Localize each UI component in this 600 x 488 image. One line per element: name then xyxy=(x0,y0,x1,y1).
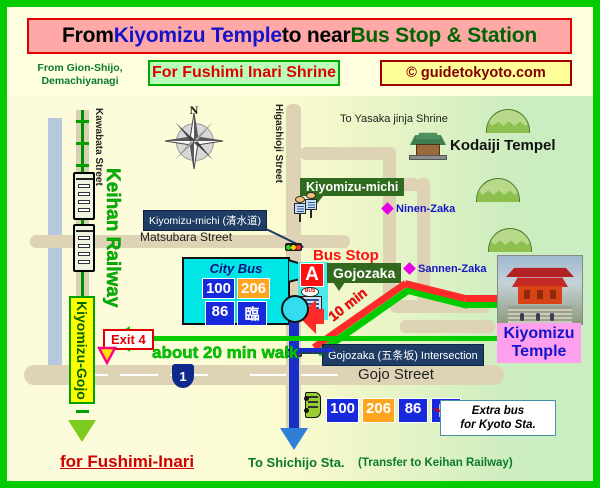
from-gion-line2: Demachiyanagi xyxy=(24,75,136,88)
keihan-railway-text: Keihan Railway xyxy=(102,168,123,307)
sannen-zaka-label: Sannen-Zaka xyxy=(418,263,486,275)
from-gion-line1: From Gion-Shijo, xyxy=(24,62,136,75)
walk-duration-label: about 20 min walk xyxy=(152,343,298,363)
city-bus-number-206: 206 xyxy=(237,278,270,299)
title-part-3: Bus Stop & Station xyxy=(350,24,537,48)
bus-stop-icon-2-cap xyxy=(306,192,316,199)
bottom-bus-number-206: 206 xyxy=(362,398,395,423)
title-part-2: to near xyxy=(282,24,351,48)
gojozaka-stop-pointer xyxy=(333,282,345,291)
train-bar-a xyxy=(76,178,93,180)
gojozaka-intersection-text: Gojozaka (五条坂) Intersection xyxy=(328,350,478,362)
train-window-b3 xyxy=(78,252,90,256)
transfer-note-label: (Transfer to Keihan Railway) xyxy=(358,457,513,469)
photo-steps xyxy=(508,306,572,324)
upper-east-road xyxy=(400,320,495,333)
transfer-note-text: (Transfer to Keihan Railway) xyxy=(358,457,513,469)
bottom-bus-number-86: 86 xyxy=(398,398,428,423)
kiyomizu-gojo-station[interactable]: Kiyomizu-Gojo xyxy=(69,296,95,404)
to-shichijo-label: To Shichijo Sta. xyxy=(248,455,345,470)
extra-bus-line-1: Extra bus xyxy=(443,404,553,418)
for-fushimi-inari-text: for Fushimi-Inari xyxy=(60,452,194,471)
bus-stop-icon-1-pole xyxy=(299,213,301,222)
to-shichijo-text: To Shichijo Sta. xyxy=(248,455,345,470)
east-vertical-road xyxy=(383,147,396,307)
kiyomizu-michi-stop-text: Kiyomizu-michi (清水道) xyxy=(149,215,261,227)
compass-star-icon xyxy=(163,111,225,171)
rail-tie-2 xyxy=(76,142,89,145)
photo-person-2 xyxy=(536,313,540,321)
gojozaka-stop-label: Gojozaka xyxy=(327,263,401,283)
city-bus-title: City Bus xyxy=(184,261,288,276)
to-yasaka-text: To Yasaka jinja Shrine xyxy=(340,113,448,125)
extra-bus-line-2: for Kyoto Sta. xyxy=(443,418,553,432)
train-window-a4 xyxy=(78,208,90,212)
rail-tie-10 xyxy=(76,410,89,413)
higashioji-street-text: Higashioji Street xyxy=(273,104,284,183)
photo-gate-body xyxy=(518,286,562,304)
gojo-street-dash-3 xyxy=(250,374,288,376)
city-bus-number-100: 100 xyxy=(202,278,235,299)
walk-duration-text: about 20 min walk xyxy=(152,343,298,362)
bus-wheel-front xyxy=(304,396,309,401)
page-title: From Kiyomizu Temple to near Bus Stop & … xyxy=(27,18,572,54)
title-part-1: Kiyomizu Temple xyxy=(114,24,282,48)
photo-person-1 xyxy=(520,313,524,321)
train-window-b4 xyxy=(78,260,90,264)
to-yasaka-label: To Yasaka jinja Shrine xyxy=(340,113,448,125)
train-window-a3 xyxy=(78,200,90,204)
credit-badge: © guidetokyoto.com xyxy=(380,60,572,86)
train-window-b2 xyxy=(78,244,90,248)
train-window-a1 xyxy=(78,184,90,188)
bottom-bus-number-100: 100 xyxy=(326,398,359,423)
sannen-zaka-text: Sannen-Zaka xyxy=(418,263,486,275)
kawabata-street-text: Kawabata Street xyxy=(93,108,104,186)
national-route-1-badge: 1 xyxy=(172,364,194,388)
bus-route-blue-node xyxy=(281,295,309,323)
train-window-a2 xyxy=(78,192,90,196)
kodaiji-temple-icon xyxy=(408,132,448,162)
rail-tie-1 xyxy=(76,120,89,123)
keihan-train-car-2 xyxy=(73,224,95,272)
national-route-1-number: 1 xyxy=(179,369,186,384)
bus-stop-icon-2 xyxy=(303,192,319,218)
city-bus-row-1: 100 206 xyxy=(184,278,288,299)
matsubara-street-label: Matsubara Street xyxy=(140,230,232,244)
gojo-street-dash-4 xyxy=(300,374,338,376)
kiyomizu-temple-photo xyxy=(497,255,583,325)
for-fushimi-inari-arrow xyxy=(68,420,96,442)
gojozaka-intersection-leader xyxy=(296,352,324,354)
kiyomizu-temple-line-1: Kiyomizu xyxy=(497,325,581,343)
gojo-street-label: Gojo Street xyxy=(358,366,434,383)
kiyomizu-temple-label: Kiyomizu Temple xyxy=(497,323,581,363)
kiyomizu-temple-line-2: Temple xyxy=(497,343,581,361)
ninen-zaka-text: Ninen-Zaka xyxy=(396,203,455,215)
train-window-b1 xyxy=(78,236,90,240)
compass-rose: N xyxy=(163,103,225,175)
train-bar-b xyxy=(76,230,93,232)
yasaka-road xyxy=(300,147,390,160)
photo-person-3 xyxy=(550,313,554,321)
from-gion-note: From Gion-Shijo, Demachiyanagi xyxy=(24,62,136,88)
bus-wheel-rear xyxy=(304,408,309,413)
fushimi-inari-banner: For Fushimi Inari Shrine xyxy=(148,60,340,86)
to-shichijo-arrow xyxy=(280,428,308,450)
gojozaka-stop-text: Gojozaka xyxy=(333,265,395,281)
kodaiji-temple-label: Kodaiji Tempel xyxy=(450,137,556,154)
exit-4-marker-icon xyxy=(96,344,118,366)
extra-bus-callout: Extra bus for Kyoto Sta. xyxy=(440,400,556,436)
bus-stop-a-marker[interactable]: A xyxy=(300,263,324,287)
city-bus-row-2: 86 臨 xyxy=(184,301,288,326)
keihan-railway-label: Keihan Railway xyxy=(101,168,123,307)
city-bus-number-86: 86 xyxy=(205,301,235,326)
bus-stop-heading-text: Bus Stop xyxy=(313,247,379,264)
ninen-zaka-label: Ninen-Zaka xyxy=(396,203,455,215)
kodaiji-temple-text: Kodaiji Tempel xyxy=(450,137,556,154)
kiyomizu-michi-road-text: Kiyomizu-michi xyxy=(306,180,398,194)
rail-tie-3 xyxy=(76,164,89,167)
city-bus-box: City Bus 100 206 86 臨 xyxy=(182,257,290,325)
credit-label: © guidetokyoto.com xyxy=(406,65,546,81)
city-bus-number-rinji: 臨 xyxy=(237,301,267,326)
fushimi-inari-banner-label: For Fushimi Inari Shrine xyxy=(152,64,336,82)
walk-route-line xyxy=(130,336,560,341)
gojo-street-dash-1 xyxy=(120,374,158,376)
bus-stop-icon-2-pole xyxy=(310,209,312,218)
bus-stop-a-letter: A xyxy=(305,264,319,286)
kiyomizu-gojo-station-label: Kiyomizu-Gojo xyxy=(74,301,90,400)
kodaiji-base xyxy=(409,155,447,160)
kawabata-street-label: Kawabata Street xyxy=(93,108,104,186)
bus-vehicle-icon xyxy=(305,392,321,418)
matsubara-street-text: Matsubara Street xyxy=(140,230,232,244)
gojozaka-intersection-label: Gojozaka (五条坂) Intersection xyxy=(322,344,484,366)
map-page: From Kiyomizu Temple to near Bus Stop & … xyxy=(0,0,600,488)
bus-stop-heading: Bus Stop xyxy=(313,247,379,264)
gojo-street-text: Gojo Street xyxy=(358,366,434,383)
keihan-train-car-1 xyxy=(73,172,95,220)
kodaiji-roof-upper xyxy=(415,132,441,139)
traffic-signal-1 xyxy=(285,243,302,251)
higashioji-street-label: Higashioji Street xyxy=(273,104,284,183)
title-part-0: From xyxy=(62,24,114,48)
for-fushimi-inari-label: for Fushimi-Inari xyxy=(60,452,194,472)
kiyomizu-michi-stop-label: Kiyomizu-michi (清水道) xyxy=(143,210,267,231)
bus-route-blue-vertical xyxy=(289,305,299,435)
